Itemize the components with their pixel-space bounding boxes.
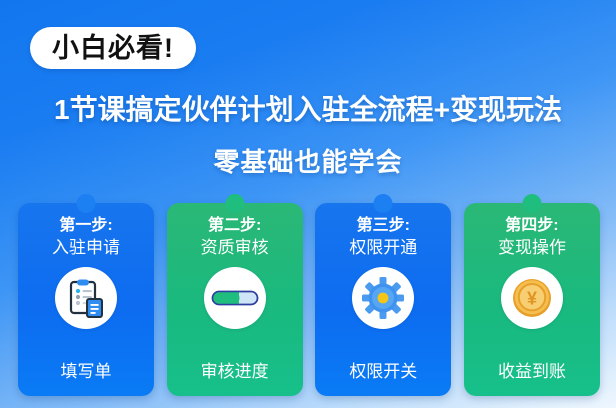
progress-bar-icon xyxy=(204,267,266,329)
step-marker-dot-icon xyxy=(522,194,541,213)
step-card-2-footer: 审核进度 xyxy=(167,357,303,382)
yuan-coin-icon: ¥ xyxy=(501,267,563,329)
step-card-3-step-label: 第三步: xyxy=(357,217,410,235)
step-marker-dot-icon xyxy=(374,194,393,213)
step-card-3-title: 权限开通 xyxy=(349,238,417,258)
clipboard-checklist-icon xyxy=(55,267,117,329)
gear-icon xyxy=(352,267,414,329)
step-card-1-footer: 填写单 xyxy=(18,357,154,382)
step-card-1-step-label: 第一步: xyxy=(59,217,112,235)
step-card-1-title: 入驻申请 xyxy=(52,238,120,258)
coin-currency-symbol: ¥ xyxy=(527,288,537,308)
step-card-list: 第一步: 入驻申请 填写单 xyxy=(18,203,600,396)
step-card-2-title: 资质审核 xyxy=(201,238,269,258)
step-marker-dot-icon xyxy=(77,194,96,213)
step-card-4[interactable]: 第四步: 变现操作 ¥ 收益到账 xyxy=(464,203,600,396)
step-marker-dot-icon xyxy=(225,194,244,213)
promo-banner: 小白必看! 1节课搞定伙伴计划入驻全流程+变现玩法 零基础也能学会 第一步: 入… xyxy=(0,0,616,408)
highlight-badge-label: 小白必看! xyxy=(52,35,174,62)
subheadline-text: 零基础也能学会 xyxy=(0,142,616,179)
step-card-3[interactable]: 第三步: 权限开通 xyxy=(315,203,451,396)
headline-text: 1节课搞定伙伴计划入驻全流程+变现玩法 xyxy=(0,88,616,128)
step-card-4-footer: 收益到账 xyxy=(464,357,600,382)
step-card-4-step-label: 第四步: xyxy=(505,217,558,235)
step-card-2-step-label: 第二步: xyxy=(208,217,261,235)
highlight-badge: 小白必看! xyxy=(30,27,196,69)
step-card-1[interactable]: 第一步: 入驻申请 填写单 xyxy=(18,203,154,396)
step-card-4-title: 变现操作 xyxy=(498,238,566,258)
step-card-3-footer: 权限开关 xyxy=(315,357,451,382)
step-card-2[interactable]: 第二步: 资质审核 审核进度 xyxy=(167,203,303,396)
